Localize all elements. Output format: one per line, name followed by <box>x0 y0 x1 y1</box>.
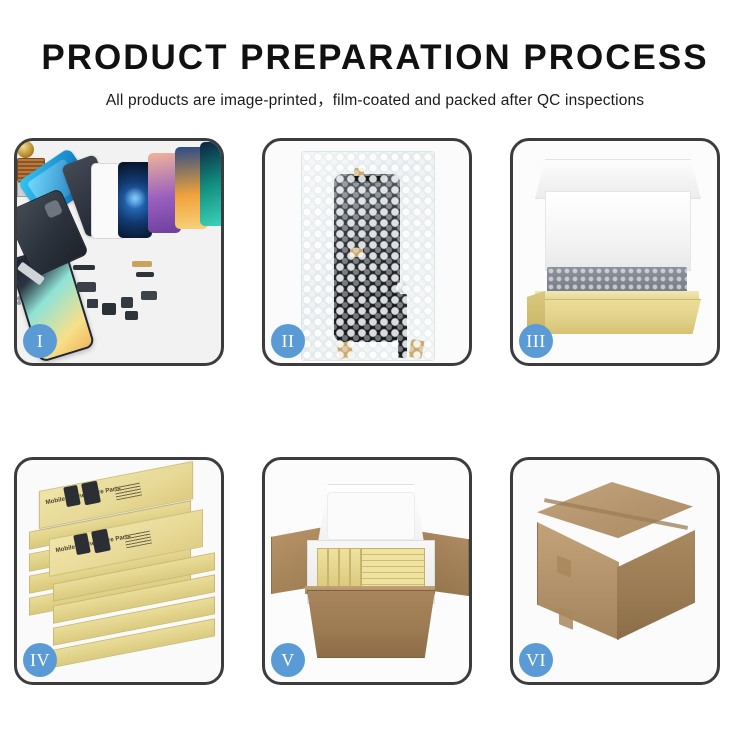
bubble-texture-overlay <box>302 152 434 360</box>
yellow-box-front-icon <box>533 299 701 334</box>
carton-front-icon <box>307 590 435 658</box>
step-badge-3: III <box>519 324 553 358</box>
box-stack: Mobile Phone Spare Parts Mobile Phone Sp… <box>25 476 217 668</box>
bracket-icon <box>77 282 96 292</box>
carton-right-face <box>617 530 695 640</box>
steps-grid: I II <box>14 138 736 685</box>
speaker-module-icon <box>17 141 34 158</box>
camera-module-icon <box>102 303 116 315</box>
foam-sheet-icon <box>545 191 691 271</box>
page-title: PRODUCT PREPARATION PROCESS <box>0 40 750 75</box>
header: PRODUCT PREPARATION PROCESS All products… <box>0 0 750 110</box>
step-badge-1: I <box>23 324 57 358</box>
step-panel-6: VI <box>510 457 720 685</box>
step-panel-4: Mobile Phone Spare Parts Mobile Phone Sp… <box>14 457 224 685</box>
step-panel-3: III <box>510 138 720 366</box>
step-badge-2: II <box>271 324 305 358</box>
flex-cable-gold-icon <box>132 261 152 267</box>
battery-connector-icon <box>73 265 95 270</box>
step-panel-5: V <box>262 457 472 685</box>
step-badge-6: VI <box>519 643 553 677</box>
step-badge-5: V <box>271 643 305 677</box>
step-panel-1: I <box>14 138 224 366</box>
carton-left-face <box>537 522 619 640</box>
foam-cooler-lid-inner <box>327 492 415 540</box>
step-panel-2: II <box>262 138 472 366</box>
bubble-wrap-bag <box>301 151 435 361</box>
small-part-a-icon <box>87 299 98 308</box>
phone-display-teal-icon <box>200 142 221 226</box>
small-part-c-icon <box>141 291 157 300</box>
step-badge-4: IV <box>23 643 57 677</box>
small-part-b-icon <box>121 297 133 308</box>
flex-cable-dark-icon <box>136 272 154 277</box>
page-subtitle: All products are image-printed，film-coat… <box>0 88 750 110</box>
product-preparation-infographic: PRODUCT PREPARATION PROCESS All products… <box>0 0 750 750</box>
phone-display-dark-icon <box>118 162 152 238</box>
small-part-d-icon <box>125 311 138 320</box>
